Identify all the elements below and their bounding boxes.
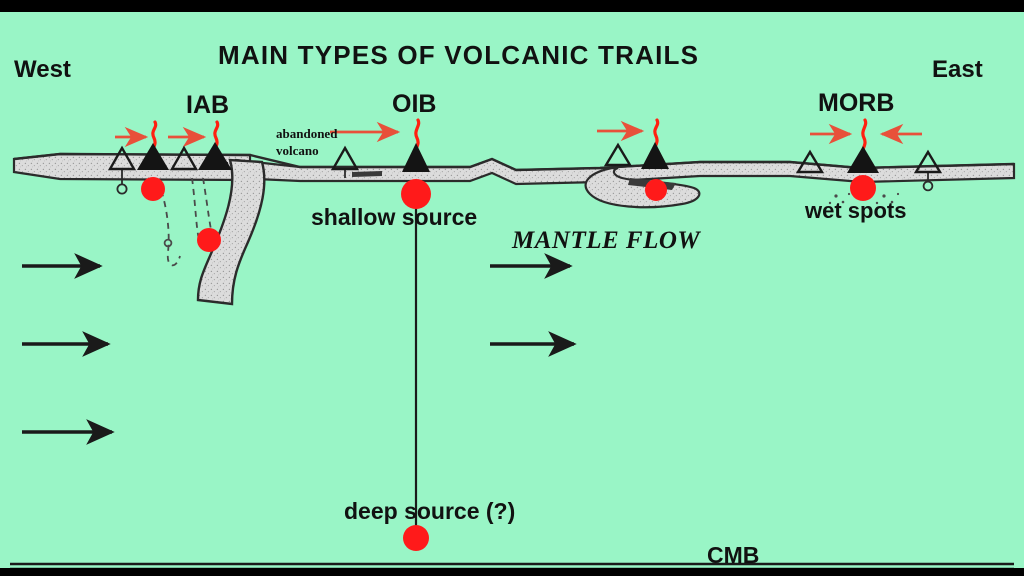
abandoned-volcano-label-line2: volcano xyxy=(276,143,319,158)
type-label-morb: MORB xyxy=(818,89,894,118)
volcano-mid-abandoned xyxy=(606,145,630,165)
page-title: MAIN TYPES OF VOLCANIC TRAILS xyxy=(218,40,699,71)
mantle-flow-label: MANTLE FLOW xyxy=(512,227,700,255)
type-label-oib: OIB xyxy=(392,90,436,119)
deep-source-label: deep source (?) xyxy=(344,498,515,525)
volcano-morb-active xyxy=(847,146,879,173)
orientation-label-east: East xyxy=(932,56,983,84)
magma-source-oib-deep xyxy=(403,525,429,551)
type-label-iab: IAB xyxy=(186,91,229,120)
magma-source-iab-shallow xyxy=(141,177,165,201)
magma-plume-group xyxy=(152,120,866,158)
cmb-boundary-line xyxy=(10,564,1014,568)
slab-fluid-paths xyxy=(158,178,214,265)
cmb-label: CMB xyxy=(707,542,759,568)
abandoned-volcano-label-line1: abandoned xyxy=(276,126,337,141)
shallow-source-label: shallow source xyxy=(311,204,477,231)
magma-source-iab-slab xyxy=(197,228,221,252)
magma-source-mid xyxy=(645,179,667,201)
volcano-oib-active xyxy=(402,143,430,172)
orientation-label-west: West xyxy=(14,56,71,84)
mantle-flow-arrow-group xyxy=(22,266,574,432)
diagram-canvas: MAIN TYPES OF VOLCANIC TRAILS West East … xyxy=(0,12,1024,568)
volcano-mid-active xyxy=(641,142,669,169)
wet-spots-label: wet spots xyxy=(805,198,906,224)
figure-stage: MAIN TYPES OF VOLCANIC TRAILS West East … xyxy=(0,0,1024,576)
plate-motion-arrow-group xyxy=(115,131,922,137)
